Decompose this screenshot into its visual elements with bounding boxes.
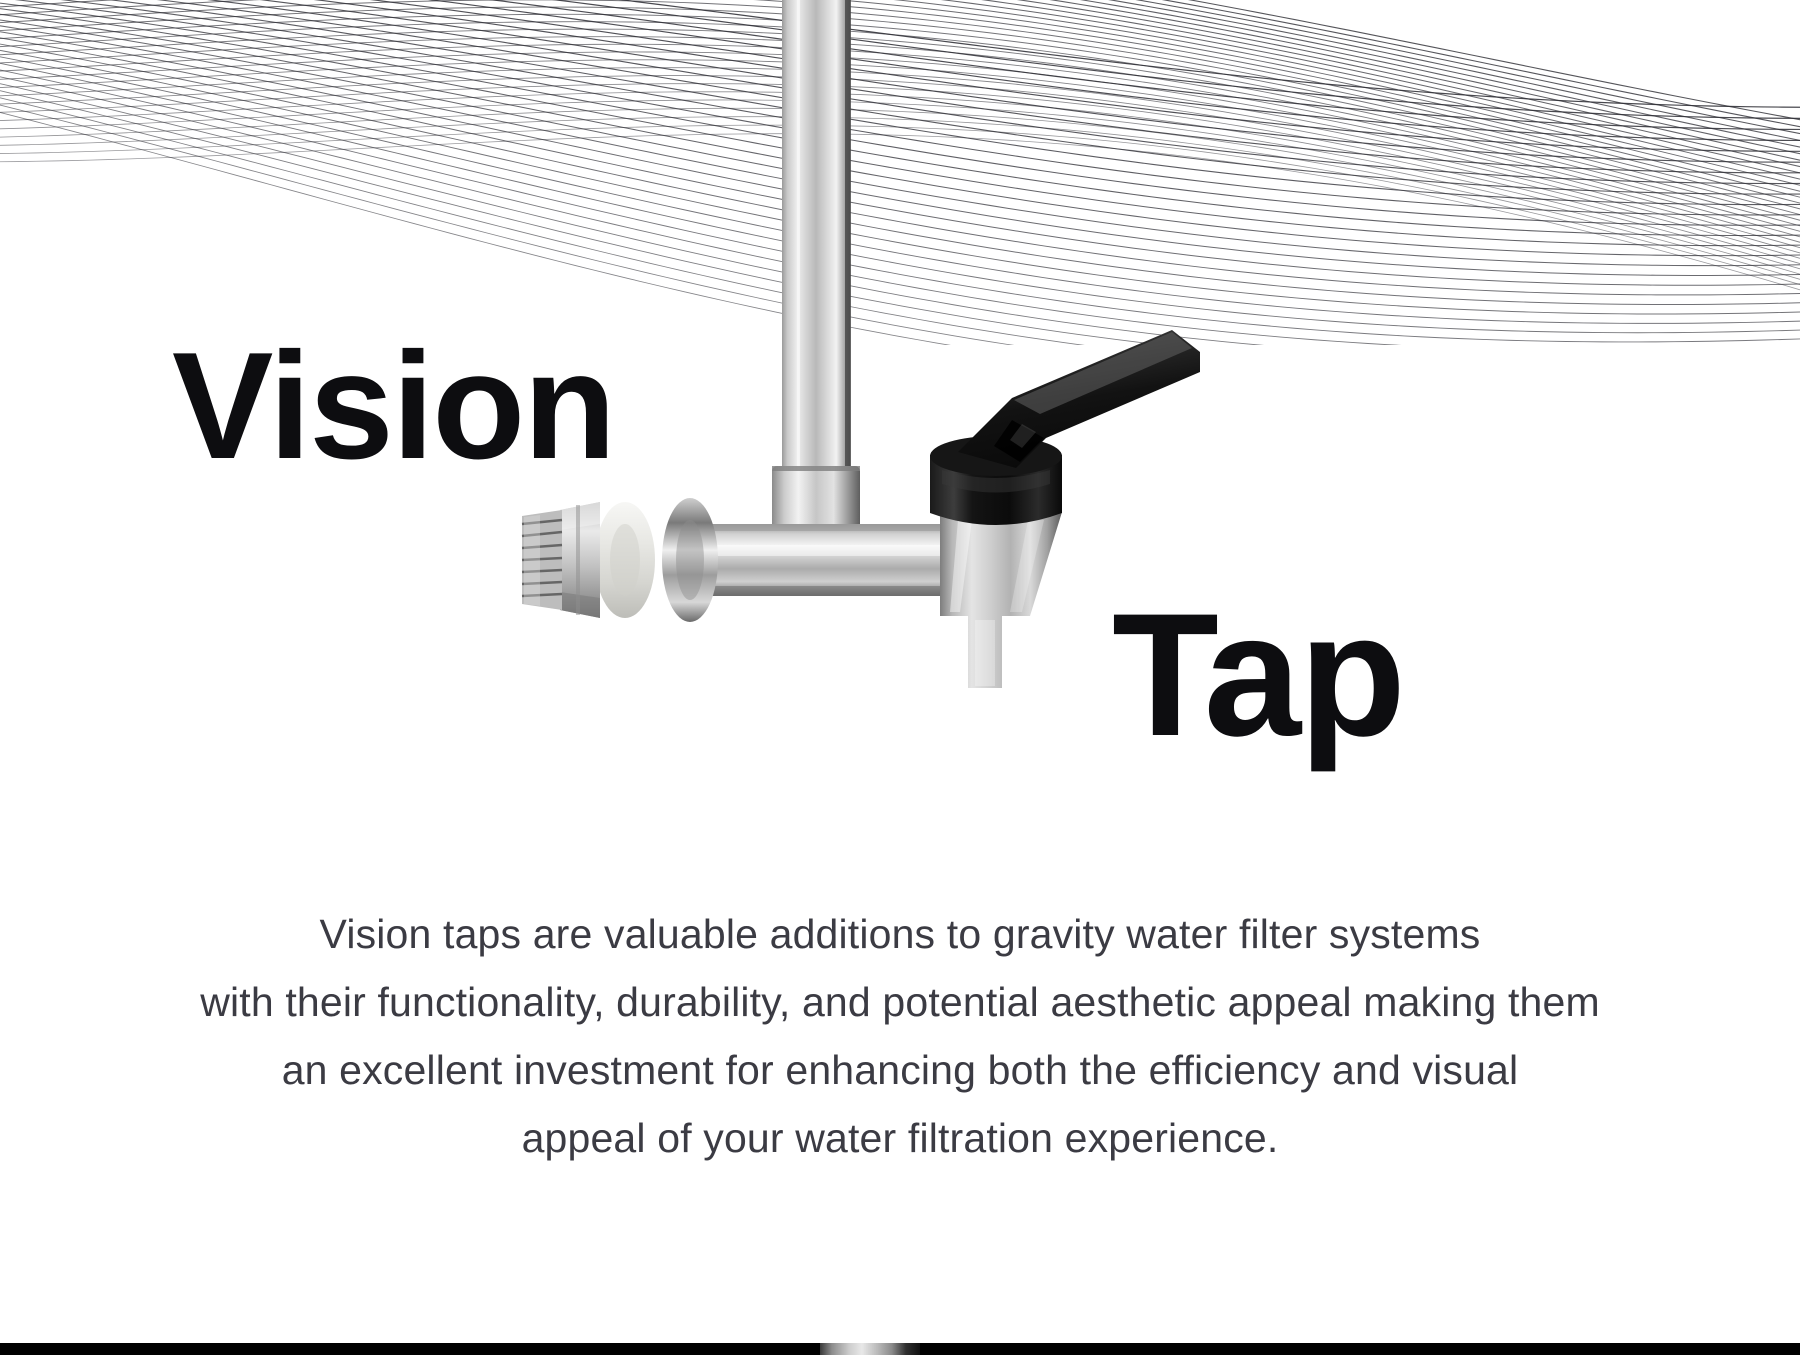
headline-word-vision: Vision: [172, 330, 614, 482]
tapered-spout: [940, 512, 1062, 688]
white-silicone-washer: [595, 502, 655, 618]
threaded-nipple: [522, 510, 562, 610]
headline-word-tap: Tap: [1112, 588, 1404, 763]
riser-tube: [782, 0, 851, 480]
decorative-wave-lines: [0, 0, 1800, 345]
bottom-black-band: [0, 1343, 1800, 1355]
hex-nut: [560, 502, 600, 618]
compression-collar: [772, 466, 860, 538]
bottom-tube-fragment: [820, 1343, 920, 1355]
black-lever-handle: [958, 330, 1200, 468]
tee-body: [680, 524, 948, 596]
description-paragraph: Vision taps are valuable additions to gr…: [0, 900, 1800, 1172]
poster-canvas: Vision Tap Vision taps are valuable addi…: [0, 0, 1800, 1355]
black-cap: [930, 436, 1062, 525]
chrome-washer: [662, 498, 718, 622]
